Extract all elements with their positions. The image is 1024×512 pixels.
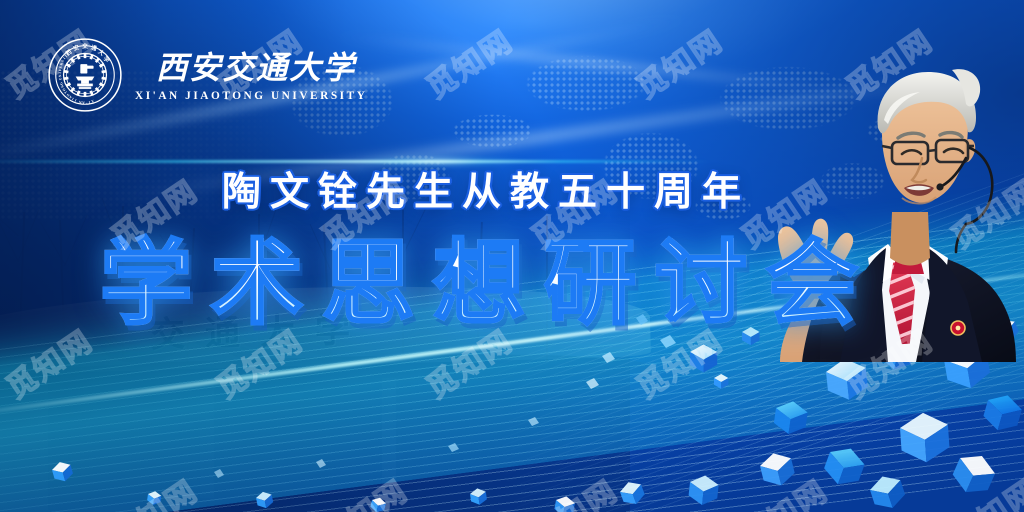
poster-canvas: 交通大学 bbox=[0, 0, 1024, 512]
watermark-text: 觅知网 bbox=[0, 317, 100, 407]
lapel-pin-icon bbox=[951, 321, 965, 335]
svg-text:西安交通大学: 西安交通大学 bbox=[156, 50, 359, 85]
watermark-text: 觅知网 bbox=[311, 467, 415, 512]
university-seal-icon: 西 安 交 通 大 学 X I ' A N J I A O T O N G bbox=[46, 36, 124, 114]
svg-text:安: 安 bbox=[72, 43, 80, 52]
xjtu-logo[interactable]: 西 安 交 通 大 学 X I ' A N J I A O T O N G bbox=[46, 36, 367, 114]
svg-text:': ' bbox=[86, 100, 87, 104]
watermark-text: 觅知网 bbox=[101, 467, 205, 512]
svg-text:N: N bbox=[78, 100, 82, 104]
svg-text:G: G bbox=[59, 81, 64, 85]
watermark-text: 觅知网 bbox=[521, 467, 625, 512]
event-subtitle: 陶文铨先生从教五十周年 bbox=[222, 161, 750, 217]
mic-capsule-icon bbox=[936, 183, 943, 190]
watermark-text: 觅知网 bbox=[626, 17, 730, 107]
watermark-text: 觅知网 bbox=[416, 17, 520, 107]
logo-wordmark-cn-icon: 西安交通大学 bbox=[135, 48, 367, 88]
svg-text:交: 交 bbox=[82, 42, 88, 50]
svg-text:通: 通 bbox=[90, 43, 98, 52]
logo-wordmark: 西安交通大学 XI'AN JIAOTONG UNIVERSITY bbox=[135, 48, 367, 102]
watermark-text: 觅知网 bbox=[941, 467, 1024, 512]
watermark-text: 觅知网 bbox=[731, 467, 835, 512]
main-title: 学术思想研讨会 bbox=[100, 238, 877, 330]
svg-text:N: N bbox=[58, 74, 62, 77]
logo-wordmark-en: XI'AN JIAOTONG UNIVERSITY bbox=[135, 90, 367, 102]
